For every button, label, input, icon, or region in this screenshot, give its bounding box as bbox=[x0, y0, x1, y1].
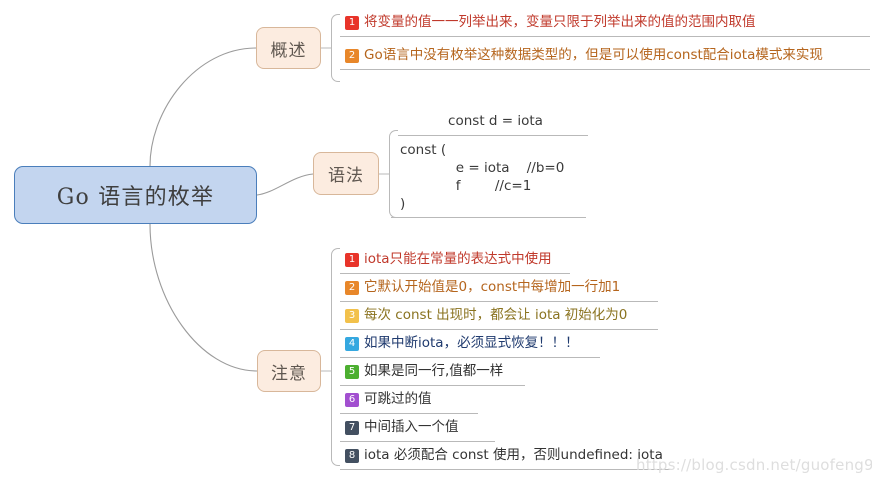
leaf-notes-8[interactable]: 8 iota 必须配合 const 使用，否则undefined: iota bbox=[340, 442, 670, 470]
leaf-syntax-1[interactable]: const d = iota bbox=[398, 108, 588, 136]
code-line-2: e = iota //b=0 bbox=[400, 159, 580, 177]
branch-node-notes[interactable]: 注意 bbox=[257, 350, 321, 392]
leaf-overview-1[interactable]: 1 将变量的值一一列举出来，变量只限于列举出来的值的范围内取值 bbox=[340, 9, 870, 37]
leaf-notes-3-text: 每次 const 出现时，都会让 iota 初始化为0 bbox=[364, 309, 627, 323]
leaf-syntax-code[interactable]: const ( e = iota //b=0 f //c=1 ) bbox=[391, 136, 586, 218]
leaf-notes-2-text: 它默认开始值是0，const中每增加一行加1 bbox=[364, 281, 620, 295]
watermark: https://blog.csdn.net/guofeng93 bbox=[636, 456, 872, 474]
leaf-notes-3[interactable]: 3 每次 const 出现时，都会让 iota 初始化为0 bbox=[340, 302, 658, 330]
branch-node-notes-label: 注意 bbox=[271, 359, 307, 384]
badge-2: 2 bbox=[345, 49, 359, 63]
leaf-underline bbox=[391, 217, 586, 218]
bracket-notes bbox=[331, 248, 340, 466]
leaf-overview-2-text: Go语言中没有枚举这种数据类型的，但是可以使用const配合iota模式来实现 bbox=[364, 49, 823, 63]
bracket-overview bbox=[331, 14, 340, 82]
badge-8: 8 bbox=[345, 449, 359, 463]
mindmap-canvas: Go 语言的枚举 概述 语法 注意 1 将变量的值一一列举出来，变量只限于列举出… bbox=[0, 0, 872, 484]
badge-6: 6 bbox=[345, 393, 359, 407]
leaf-notes-5-text: 如果是同一行,值都一样 bbox=[364, 365, 503, 379]
leaf-notes-1-text: iota只能在常量的表达式中使用 bbox=[364, 253, 552, 267]
branch-node-syntax[interactable]: 语法 bbox=[313, 152, 379, 195]
leaf-notes-1[interactable]: 1 iota只能在常量的表达式中使用 bbox=[340, 246, 570, 274]
badge-7: 7 bbox=[345, 421, 359, 435]
leaf-notes-7[interactable]: 7 中间插入一个值 bbox=[340, 414, 495, 442]
branch-node-overview-label: 概述 bbox=[271, 36, 307, 61]
badge-3: 3 bbox=[345, 309, 359, 323]
leaf-overview-1-text: 将变量的值一一列举出来，变量只限于列举出来的值的范围内取值 bbox=[364, 16, 756, 30]
branch-node-overview[interactable]: 概述 bbox=[256, 27, 321, 69]
leaf-notes-4[interactable]: 4 如果中断iota，必须显式恢复！！！ bbox=[340, 330, 600, 358]
leaf-syntax-1-text: const d = iota bbox=[448, 115, 543, 129]
leaf-underline bbox=[340, 469, 670, 470]
leaf-notes-7-text: 中间插入一个值 bbox=[364, 421, 459, 435]
leaf-notes-4-text: 如果中断iota，必须显式恢复！！！ bbox=[364, 337, 579, 351]
leaf-notes-5[interactable]: 5 如果是同一行,值都一样 bbox=[340, 358, 525, 386]
leaf-notes-6[interactable]: 6 可跳过的值 bbox=[340, 386, 478, 414]
code-line-1: const ( bbox=[400, 141, 580, 159]
root-node-label: Go 语言的枚举 bbox=[57, 179, 214, 211]
root-node[interactable]: Go 语言的枚举 bbox=[14, 166, 257, 224]
leaf-notes-8-text: iota 必须配合 const 使用，否则undefined: iota bbox=[364, 449, 663, 463]
badge-1: 1 bbox=[345, 16, 359, 30]
leaf-underline bbox=[340, 69, 870, 70]
leaf-notes-2[interactable]: 2 它默认开始值是0，const中每增加一行加1 bbox=[340, 274, 658, 302]
branch-node-syntax-label: 语法 bbox=[328, 161, 364, 186]
badge-4: 4 bbox=[345, 337, 359, 351]
badge-2: 2 bbox=[345, 281, 359, 295]
code-line-3: f //c=1 bbox=[400, 177, 580, 195]
leaf-notes-6-text: 可跳过的值 bbox=[364, 393, 432, 407]
leaf-overview-2[interactable]: 2 Go语言中没有枚举这种数据类型的，但是可以使用const配合iota模式来实… bbox=[340, 42, 870, 70]
code-line-4: ) bbox=[400, 195, 580, 213]
badge-5: 5 bbox=[345, 365, 359, 379]
badge-1: 1 bbox=[345, 253, 359, 267]
leaf-underline bbox=[340, 36, 870, 37]
